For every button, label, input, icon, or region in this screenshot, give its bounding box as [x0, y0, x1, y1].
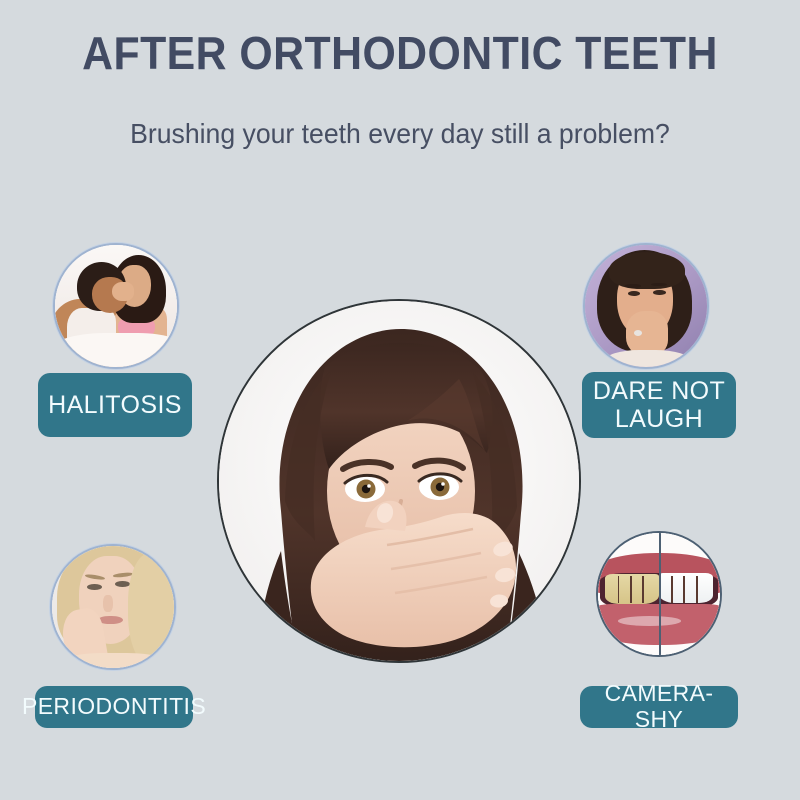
- page-title: AFTER ORTHODONTIC TEETH: [28, 26, 772, 80]
- tooth-gap-shape: [683, 576, 685, 603]
- shoulder-shape: [57, 653, 172, 670]
- left-eye-shape: [87, 584, 102, 590]
- problem-image-periodontitis: [50, 544, 176, 670]
- nose-shape: [103, 595, 113, 612]
- toothache-woman-photo: [52, 546, 174, 668]
- left-eyebrow-shape: [625, 284, 641, 288]
- problem-label-periodontitis[interactable]: PERIODONTITIS: [35, 686, 193, 728]
- lip-highlight-shape: [618, 616, 681, 626]
- tooth-gap-shape: [642, 576, 644, 603]
- white-teeth-shape: [659, 573, 713, 602]
- tooth-gap-shape: [630, 576, 632, 603]
- woman-covering-mouth-illustration: [219, 301, 581, 663]
- hand-shape: [626, 311, 667, 355]
- problem-image-halitosis: [53, 243, 179, 369]
- woman-covering-mouth-photo: [219, 301, 579, 661]
- bangs-shape: [609, 252, 685, 289]
- problem-label-halitosis[interactable]: HALITOSIS: [38, 373, 192, 437]
- before-after-divider-line: [659, 531, 661, 657]
- right-eye-shape: [653, 290, 665, 295]
- problem-label-dare-not-laugh[interactable]: DARE NOT LAUGH: [582, 372, 736, 438]
- center-hero-image: [217, 299, 581, 663]
- couple-in-bed-photo: [55, 245, 177, 367]
- tooth-gap-shape: [618, 576, 620, 603]
- tooth-gap-shape: [696, 576, 698, 603]
- shoulder-shape: [605, 350, 690, 369]
- tooth-gap-shape: [671, 576, 673, 603]
- side-hair-shape: [128, 553, 176, 665]
- problem-label-camera-shy[interactable]: CAMERA-SHY: [580, 686, 738, 728]
- page-subtitle: Brushing your teeth every day still a pr…: [20, 118, 780, 150]
- stained-teeth-shape: [605, 574, 659, 603]
- problem-image-dare-not-laugh: [583, 243, 709, 369]
- bedsheet-shape: [53, 333, 179, 369]
- woman-hand-shape: [112, 282, 134, 302]
- problem-image-camera-shy: [596, 531, 722, 657]
- teeth-before-after-photo: [598, 533, 720, 655]
- laughing-woman-photo: [585, 245, 707, 367]
